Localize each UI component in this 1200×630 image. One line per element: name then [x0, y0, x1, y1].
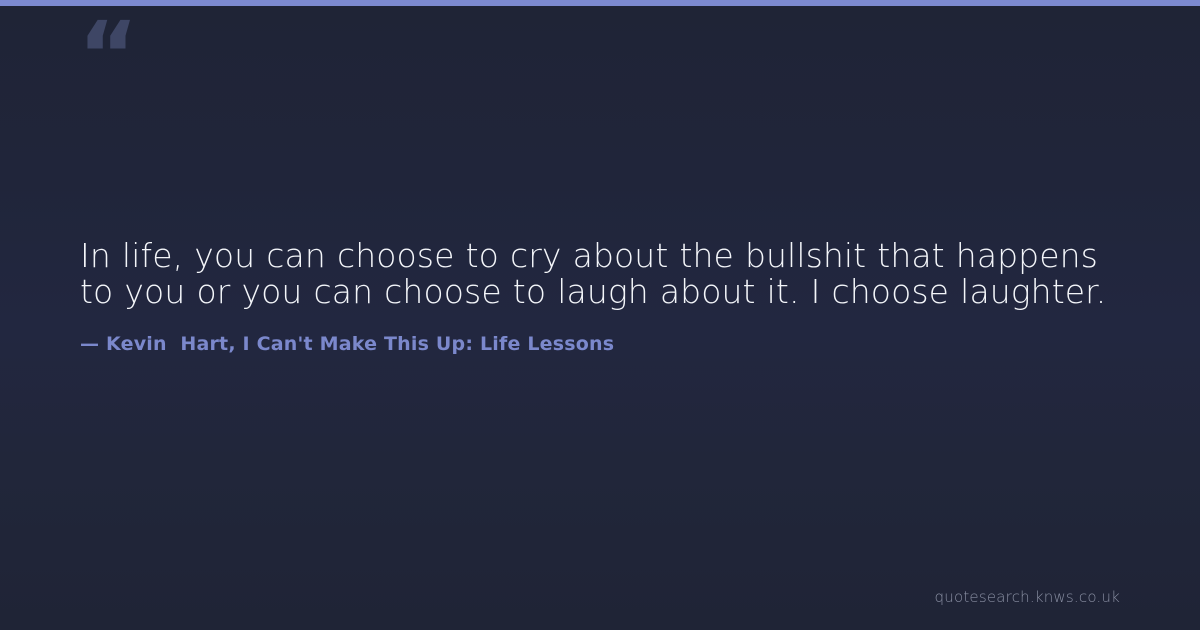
quote-text: In life, you can choose to cry about the… — [80, 238, 1125, 310]
quote-content-block: In life, you can choose to cry about the… — [80, 238, 1125, 356]
open-quote-icon: “ — [78, 10, 136, 102]
quote-attribution: — Kevin Hart, I Can't Make This Up: Life… — [80, 310, 1125, 356]
site-watermark: quotesearch.knws.co.uk — [935, 588, 1120, 606]
quote-card: “ In life, you can choose to cry about t… — [0, 0, 1200, 630]
top-accent-bar — [0, 0, 1200, 6]
